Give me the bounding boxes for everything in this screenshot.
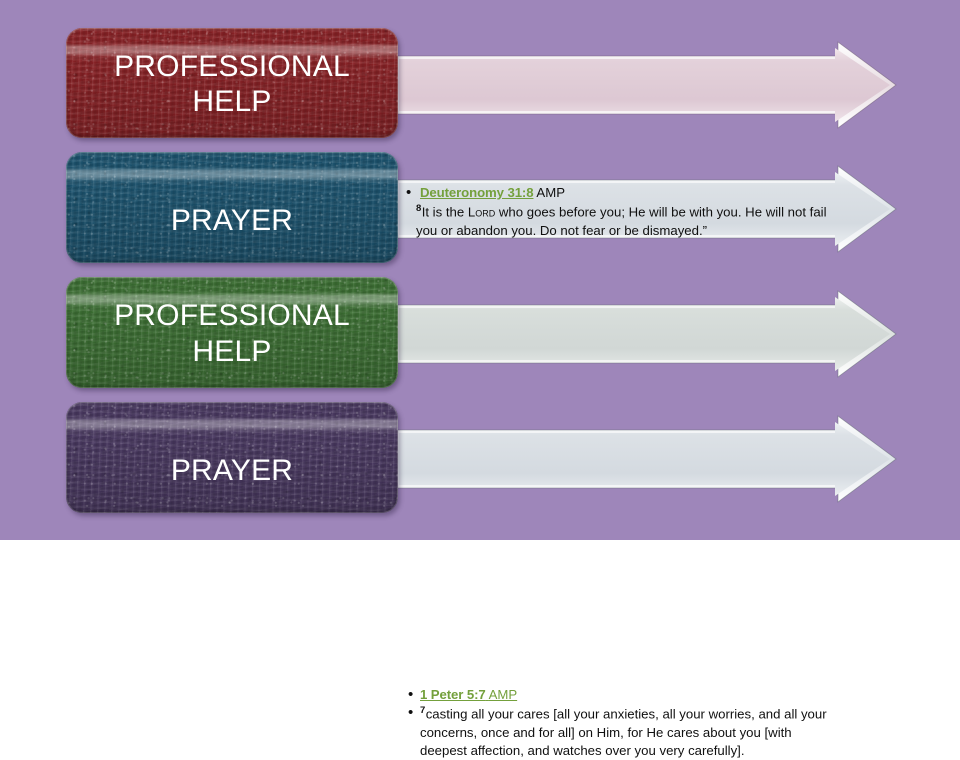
label-box-prayer-2[interactable]: PRAYER — [66, 402, 398, 513]
arrow-text-4: •1 Peter 5:7 AMP •7casting all your care… — [404, 686, 836, 760]
label-box-prayer-1[interactable]: PRAYER — [66, 152, 398, 263]
label-box-professional-help-1[interactable]: PROFESSIONAL HELP — [66, 28, 398, 138]
label-text-1: PROFESSIONAL HELP — [104, 49, 360, 120]
scripture-reference-4[interactable]: 1 Peter 5:7 — [420, 687, 486, 702]
scripture-verse-4: •7casting all your cares [all your anxie… — [404, 704, 836, 760]
bullet-icon: • — [406, 183, 411, 204]
arrow-shape-4 — [396, 416, 896, 502]
verse-text-4: casting all your cares [all your anxieti… — [420, 707, 827, 758]
row-professional-help-1: PROFESSIONAL HELP — [0, 0, 960, 150]
scripture-verse-2: 8It is the Lord who goes before you; He … — [404, 202, 836, 240]
label-text-3: PROFESSIONAL HELP — [104, 298, 360, 369]
label-text-2: PRAYER — [161, 203, 303, 238]
row-prayer-1: •Deuteronomy 31:8 AMP 8It is the Lord wh… — [0, 138, 960, 278]
label-text-4: PRAYER — [161, 453, 303, 488]
arrow-svg-4 — [396, 416, 896, 502]
slide-canvas: PROFESSIONAL HELP — [0, 0, 960, 540]
label-line1-3: PROFESSIONAL — [114, 299, 350, 332]
scripture-version-label-4: AMP — [489, 687, 518, 702]
arrow-shape-1 — [396, 42, 896, 128]
scripture-heading-2: •Deuteronomy 31:8 AMP — [404, 184, 836, 202]
verse-text-a-2: It is the — [422, 205, 468, 220]
arrow-text-2: •Deuteronomy 31:8 AMP 8It is the Lord wh… — [404, 184, 836, 240]
row-professional-help-2: PROFESSIONAL HELP — [0, 263, 960, 403]
label-box-professional-help-2[interactable]: PROFESSIONAL HELP — [66, 277, 398, 388]
scripture-version-label-2: AMP — [536, 185, 565, 200]
label-line2-1: HELP — [192, 85, 271, 118]
label-line2-3: HELP — [192, 335, 271, 368]
bullet-icon: • — [408, 703, 413, 724]
arrow-shape-3 — [396, 291, 896, 377]
arrow-svg-1 — [396, 42, 896, 128]
label-line1-1: PROFESSIONAL — [114, 50, 350, 83]
row-prayer-2: •1 Peter 5:7 AMP •7casting all your care… — [0, 388, 960, 540]
divine-name-lord: Lord — [468, 205, 495, 220]
scripture-heading-4: •1 Peter 5:7 AMP — [404, 686, 836, 704]
scripture-reference-2[interactable]: Deuteronomy 31:8 — [420, 185, 533, 200]
arrow-svg-3 — [396, 291, 896, 377]
